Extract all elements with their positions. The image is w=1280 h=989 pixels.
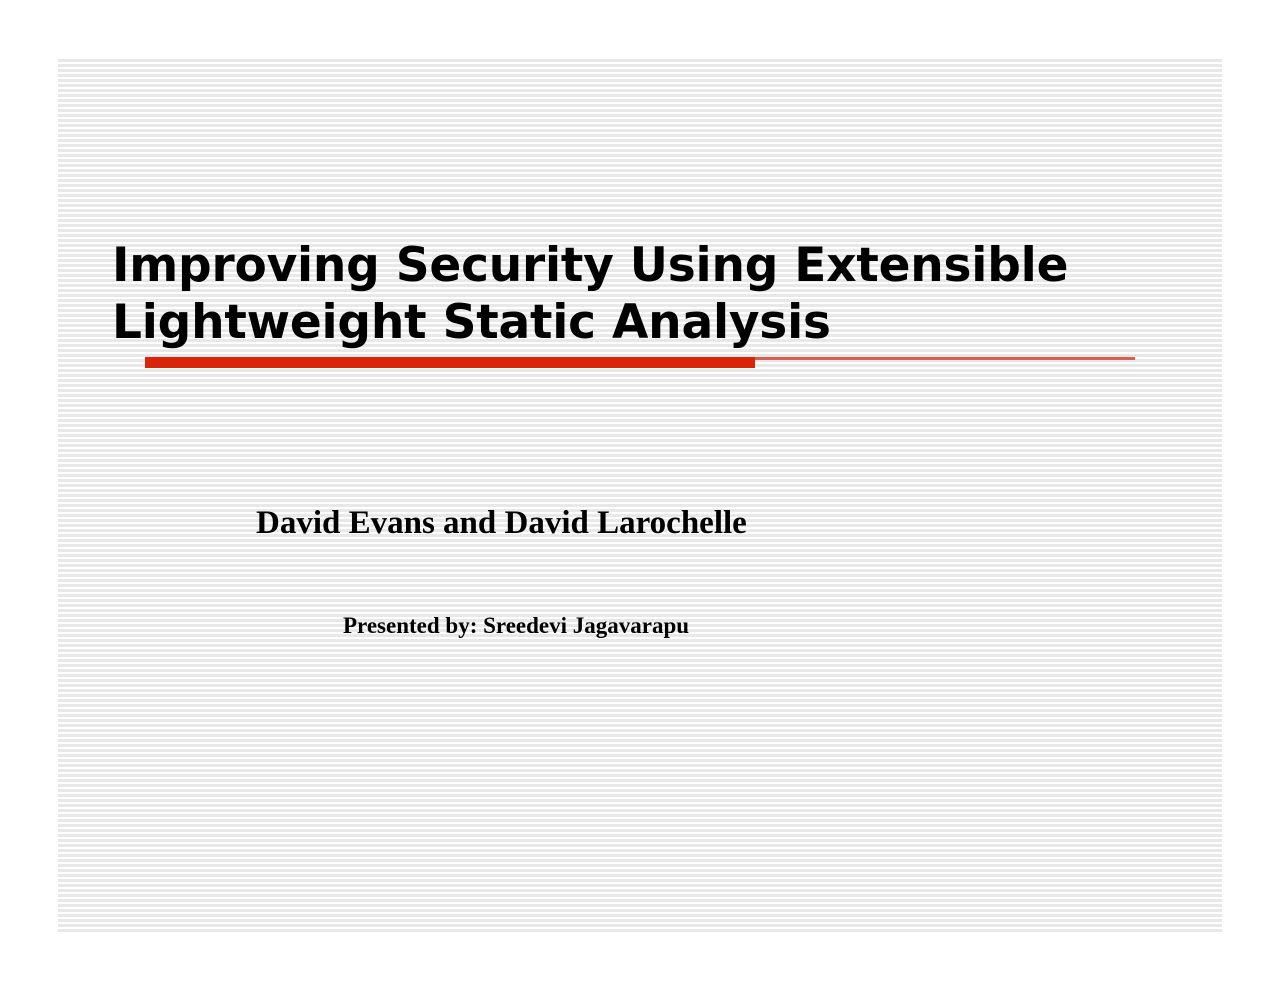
title-line-2: Lightweight Static Analysis	[112, 294, 1092, 351]
title-slide: Improving Security Using Extensible Ligh…	[0, 0, 1280, 989]
striped-background-panel	[58, 57, 1222, 933]
presenter-line: Presented by: Sreedevi Jagavarapu	[343, 611, 689, 641]
page-title: Improving Security Using Extensible Ligh…	[112, 237, 1092, 351]
title-line-1: Improving Security Using Extensible	[112, 237, 1092, 294]
authors-line: David Evans and David Larochelle	[256, 503, 747, 543]
accent-rule-thick	[145, 357, 755, 368]
